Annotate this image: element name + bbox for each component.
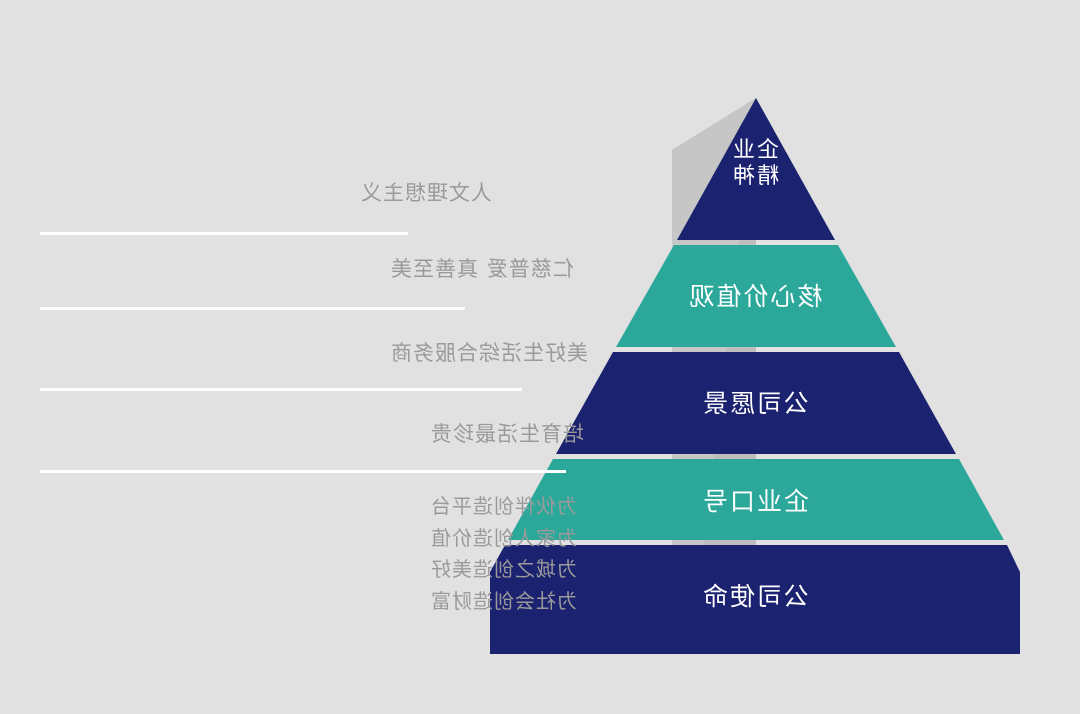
note-corporate-slogan: 培育生活最珍贵: [430, 419, 660, 451]
leader-line-4: [40, 470, 566, 473]
note-core-values: 仁慈普爱 真善至美: [390, 254, 640, 286]
pyramid-diagram-canvas: 企业 精神 核心价值观 公司愿景 企业口号 公司使命 人文理想主义 仁慈普爱 真…: [0, 0, 1080, 714]
leader-line-2: [40, 307, 465, 310]
leader-line-3: [40, 388, 522, 391]
note-corporate-spirit: 人文理想主义: [360, 178, 560, 210]
note-company-mission: 为伙伴创造平台 为家人创造价值 为城之创造美好 为社会创造财富: [430, 491, 700, 617]
pyramid-tier-1-label: 企业 精神: [490, 138, 1020, 191]
leader-line-1: [40, 232, 408, 235]
pyramid-tier-3-label: 公司愿景: [490, 388, 1020, 420]
note-company-vision: 美好生活综合服务商: [390, 338, 680, 370]
